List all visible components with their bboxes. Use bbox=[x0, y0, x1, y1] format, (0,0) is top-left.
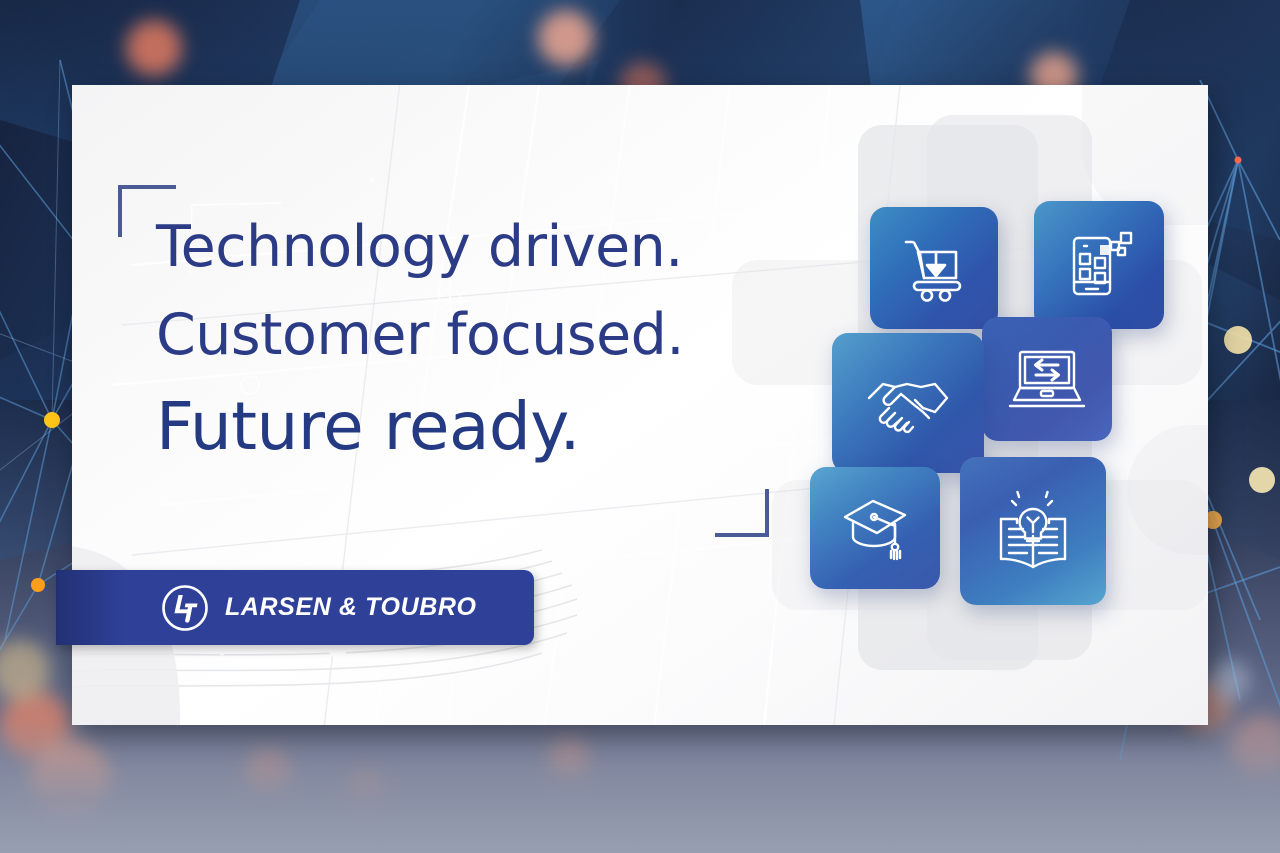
corner-bracket-bottom-right bbox=[715, 489, 769, 537]
brand-name: LARSEN & TOUBRO bbox=[225, 593, 477, 622]
laptop-data-exchange-icon bbox=[1008, 344, 1086, 414]
headline-block: Technology driven. Customer focused. Fut… bbox=[156, 203, 684, 475]
tile-handshake[interactable] bbox=[832, 333, 984, 473]
brand-bar[interactable]: LARSEN & TOUBRO bbox=[56, 570, 534, 645]
tile-gradcap[interactable] bbox=[810, 467, 940, 589]
bracket-line-vertical bbox=[765, 489, 769, 537]
headline-line-1: Technology driven. bbox=[156, 203, 684, 291]
shopping-cart-download-icon bbox=[898, 232, 970, 304]
handshake-icon bbox=[865, 370, 951, 436]
tile-book[interactable] bbox=[960, 457, 1106, 605]
bokeh-dot bbox=[1210, 660, 1250, 700]
bracket-line-horizontal bbox=[715, 533, 769, 537]
background-bottom-fade bbox=[0, 720, 1280, 853]
tile-mobile[interactable] bbox=[1034, 201, 1164, 329]
mobile-apps-icon bbox=[1062, 228, 1136, 302]
bracket-line-vertical bbox=[118, 185, 122, 237]
graduation-cap-icon bbox=[837, 493, 913, 563]
banner-root: Technology driven. Customer focused. Fut… bbox=[0, 0, 1280, 853]
headline-line-3: Future ready. bbox=[156, 379, 684, 475]
book-lightbulb-icon bbox=[991, 489, 1075, 573]
tile-cart[interactable] bbox=[870, 207, 998, 329]
tile-laptop[interactable] bbox=[982, 317, 1112, 441]
headline-line-2: Customer focused. bbox=[156, 291, 684, 379]
bokeh-dot bbox=[538, 10, 594, 66]
bracket-line-horizontal bbox=[118, 185, 176, 189]
lt-monogram-icon bbox=[161, 584, 209, 632]
bokeh-dot bbox=[126, 20, 182, 76]
